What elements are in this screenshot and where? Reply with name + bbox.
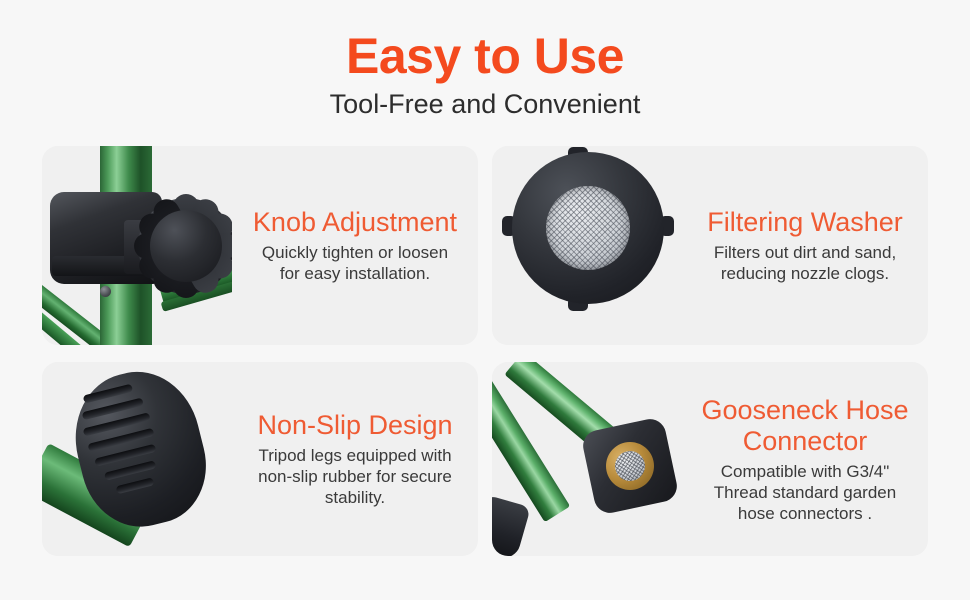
product-photo-non-slip-design (42, 362, 232, 556)
feature-description: Tripod legs equipped with non-slip rubbe… (258, 445, 452, 508)
page-title: Easy to Use (0, 0, 970, 84)
product-photo-gooseneck-hose-connector (492, 362, 682, 556)
feature-card-non-slip-design[interactable]: Non-Slip Design Tripod legs equipped wit… (42, 362, 478, 556)
hose-connector-nut-shape (580, 416, 680, 516)
feature-copy-non-slip-design: Non-Slip Design Tripod legs equipped wit… (232, 362, 478, 556)
mesh-screen-shape (546, 186, 630, 270)
feature-card-filtering-washer[interactable]: Filtering Washer Filters out dirt and sa… (492, 146, 928, 345)
feature-title: Gooseneck Hose Connector (701, 395, 908, 457)
feature-copy-knob-adjustment: Knob Adjustment Quickly tighten or loose… (232, 146, 478, 345)
feature-title: Filtering Washer (707, 207, 903, 238)
feature-description: Quickly tighten or loosen for easy insta… (262, 242, 448, 284)
product-photo-filtering-washer (492, 146, 682, 345)
feature-card-grid: Knob Adjustment Quickly tighten or loose… (42, 146, 928, 556)
mesh-filter-shape (612, 448, 648, 484)
feature-copy-gooseneck-hose-connector: Gooseneck Hose Connector Compatible with… (682, 362, 928, 556)
brass-thread-shape (602, 438, 659, 495)
washer-ring-shape (512, 152, 664, 304)
feature-description: Filters out dirt and sand, reducing nozz… (714, 242, 896, 284)
feature-copy-filtering-washer: Filtering Washer Filters out dirt and sa… (682, 146, 928, 345)
header: Easy to Use Tool-Free and Convenient (0, 0, 970, 120)
feature-card-gooseneck-hose-connector[interactable]: Gooseneck Hose Connector Compatible with… (492, 362, 928, 556)
feature-title: Knob Adjustment (253, 207, 457, 238)
feature-description: Compatible with G3/4" Thread standard ga… (714, 461, 896, 524)
feature-title: Non-Slip Design (257, 410, 452, 441)
page-subtitle: Tool-Free and Convenient (0, 84, 970, 120)
product-photo-knob-adjustment (42, 146, 232, 345)
tripod-foot-shape (492, 495, 531, 556)
adjustment-knob-shape (138, 198, 232, 294)
clamp-screw-shape (100, 286, 111, 297)
feature-card-knob-adjustment[interactable]: Knob Adjustment Quickly tighten or loose… (42, 146, 478, 345)
